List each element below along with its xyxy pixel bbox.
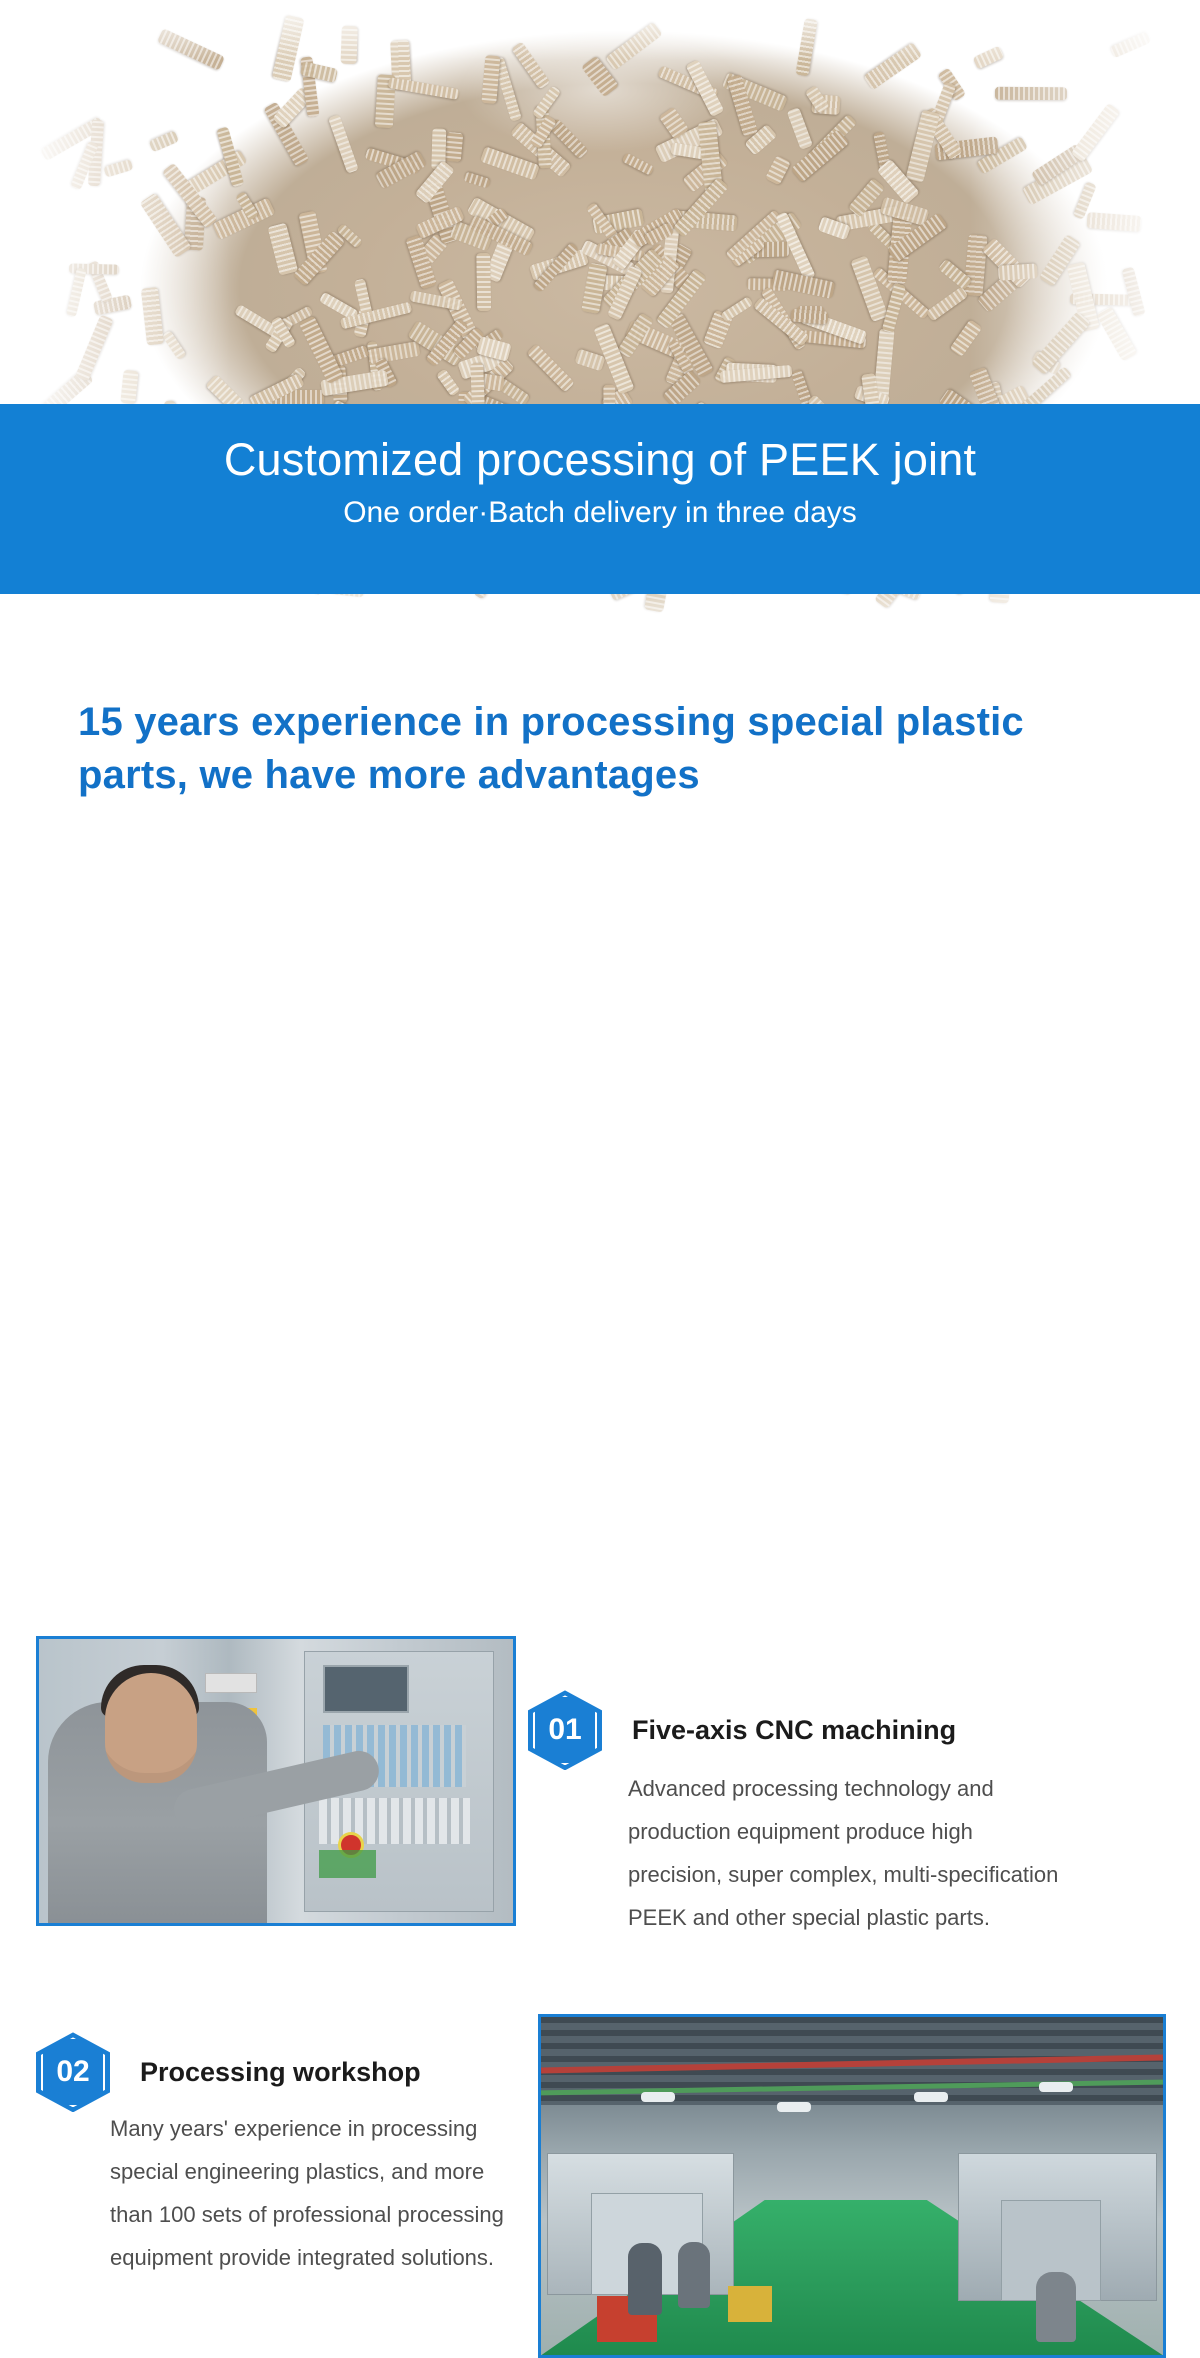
hero-banner: Customized processing of PEEK joint One … bbox=[0, 404, 1200, 594]
feature-2-header: 02 Processing workshop bbox=[36, 2032, 421, 2112]
feature-1-header: 01 Five-axis CNC machining bbox=[528, 1690, 956, 1770]
banner-title: Customized processing of PEEK joint bbox=[0, 432, 1200, 488]
peek-fitting bbox=[972, 46, 1004, 70]
peek-fitting bbox=[141, 287, 164, 345]
peek-fitting bbox=[476, 253, 491, 311]
peek-fitting bbox=[963, 234, 987, 296]
peek-fitting bbox=[157, 28, 225, 70]
peek-fitting bbox=[621, 152, 654, 176]
peek-fitting bbox=[764, 155, 791, 186]
feature-1-image bbox=[36, 1636, 516, 1926]
peek-fitting bbox=[436, 369, 460, 397]
peek-fitting bbox=[863, 42, 921, 90]
peek-fitting bbox=[791, 308, 829, 324]
peek-fitting bbox=[267, 223, 298, 276]
feature-1-number: 01 bbox=[548, 1713, 581, 1747]
feature-1-title: Five-axis CNC machining bbox=[632, 1715, 956, 1746]
peek-fitting bbox=[605, 22, 662, 71]
feature-2-body: Many years' experience in processing spe… bbox=[110, 2108, 518, 2280]
feature-2-number: 02 bbox=[56, 2055, 89, 2089]
peek-fitting bbox=[795, 19, 817, 77]
hero-section: Customized processing of PEEK joint One … bbox=[0, 0, 1200, 640]
peek-fitting bbox=[1121, 267, 1145, 318]
feature-2-title: Processing workshop bbox=[140, 2057, 421, 2088]
peek-fitting bbox=[148, 130, 178, 152]
peek-fitting bbox=[720, 296, 754, 323]
peek-fitting bbox=[1109, 31, 1151, 58]
peek-fitting bbox=[574, 348, 605, 371]
peek-fitting bbox=[103, 159, 133, 178]
peek-fitting bbox=[341, 25, 358, 64]
peek-fitting bbox=[949, 320, 982, 358]
peek-fitting bbox=[1070, 103, 1120, 163]
peek-fitting bbox=[1086, 212, 1141, 232]
peek-fitting bbox=[926, 286, 969, 321]
banner-subtitle: One order·Batch delivery in three days bbox=[0, 496, 1200, 530]
peek-fitting bbox=[121, 370, 140, 405]
feature-2-number-badge: 02 bbox=[36, 2032, 110, 2112]
peek-fitting bbox=[995, 86, 1067, 100]
peek-fitting bbox=[1030, 311, 1090, 376]
feature-2-image bbox=[538, 2014, 1166, 2358]
peek-fitting bbox=[93, 294, 132, 315]
peek-fitting bbox=[387, 77, 459, 100]
peek-fitting bbox=[444, 132, 463, 162]
feature-1-number-badge: 01 bbox=[528, 1690, 602, 1770]
page-headline: 15 years experience in processing specia… bbox=[78, 696, 1138, 802]
peek-fitting bbox=[1096, 306, 1138, 362]
peek-fitting bbox=[75, 315, 114, 382]
peek-fitting bbox=[527, 344, 576, 393]
peek-fitting bbox=[481, 55, 500, 104]
peek-fitting bbox=[140, 193, 192, 258]
peek-fitting bbox=[512, 42, 551, 90]
peek-fitting bbox=[787, 107, 813, 150]
peek-fitting bbox=[161, 330, 186, 361]
peek-fitting bbox=[997, 264, 1037, 281]
peek-fitting bbox=[851, 256, 889, 323]
peek-fitting bbox=[463, 172, 491, 189]
peek-fitting bbox=[66, 268, 87, 318]
peek-fitting bbox=[328, 114, 359, 174]
feature-1-body: Advanced processing technology and produ… bbox=[628, 1768, 1060, 1940]
